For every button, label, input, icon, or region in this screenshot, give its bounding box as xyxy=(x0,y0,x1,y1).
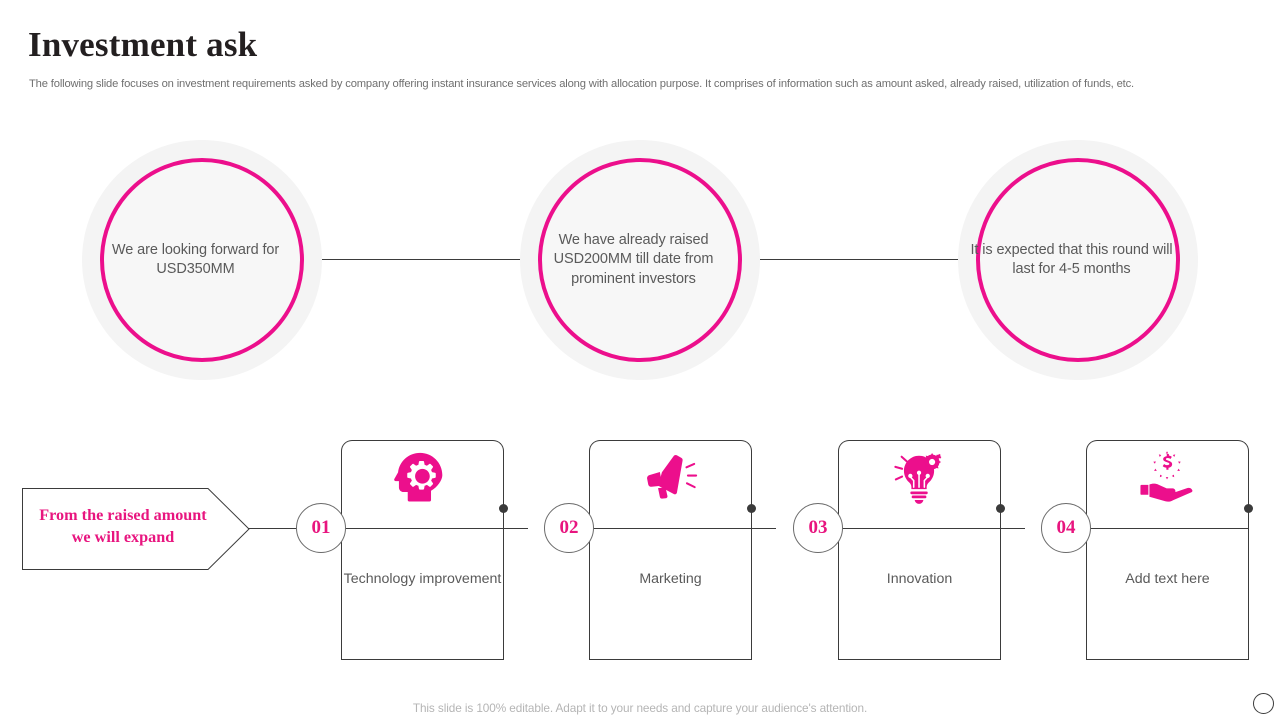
step-2-endpoint-dot xyxy=(747,504,756,513)
allocation-step-3[interactable]: Innovation 03 xyxy=(838,430,1001,660)
hand-money-icon xyxy=(1137,448,1199,506)
highlight-circle-1-text: We are looking forward for USD350MM xyxy=(91,241,300,280)
step-3-label: Innovation xyxy=(838,570,1001,589)
step-3-connector-line xyxy=(838,528,1025,529)
footer-note: This slide is 100% editable. Adapt it to… xyxy=(0,701,1280,715)
lightbulb-gear-icon xyxy=(889,448,951,506)
allocation-step-2[interactable]: Marketing 02 xyxy=(589,430,752,660)
step-4-label-box xyxy=(1086,528,1249,660)
step-3-number-badge[interactable]: 03 xyxy=(793,503,843,553)
highlight-circle-2-text: We have already raised USD200MM till dat… xyxy=(529,231,738,289)
allocation-process-row: From the raised amount we will expand Te… xyxy=(0,430,1280,680)
allocation-banner[interactable]: From the raised amount we will expand xyxy=(22,488,250,570)
highlight-circle-1-ring: We are looking forward for USD350MM xyxy=(100,158,304,362)
circle-connector-2 xyxy=(760,259,961,260)
step-1-endpoint-dot xyxy=(499,504,508,513)
head-gear-icon xyxy=(392,448,454,506)
step-2-connector-line xyxy=(589,528,776,529)
step-4-connector-line xyxy=(1086,528,1249,529)
allocation-banner-label: From the raised amount we will expand xyxy=(28,504,218,548)
step-2-label-box xyxy=(589,528,752,660)
highlight-circle-1[interactable]: We are looking forward for USD350MM xyxy=(82,140,322,380)
allocation-step-4[interactable]: Add text here 04 xyxy=(1086,430,1249,660)
page-subtitle: The following slide focuses on investmen… xyxy=(29,77,1201,92)
highlight-circle-3-text: It is expected that this round will last… xyxy=(967,241,1176,280)
step-4-number-badge[interactable]: 04 xyxy=(1041,503,1091,553)
step-1-label: Technology improvement xyxy=(341,570,504,589)
step-3-label-box xyxy=(838,528,1001,660)
step-1-label-box xyxy=(341,528,504,660)
highlight-circle-3[interactable]: It is expected that this round will last… xyxy=(958,140,1198,380)
step-1-number-badge[interactable]: 01 xyxy=(296,503,346,553)
circle-connector-1 xyxy=(322,259,523,260)
step-4-label: Add text here xyxy=(1086,570,1249,589)
highlight-circle-3-ring: It is expected that this round will last… xyxy=(976,158,1180,362)
megaphone-icon xyxy=(640,448,702,506)
corner-circle-marker[interactable] xyxy=(1253,693,1274,714)
highlight-circle-2[interactable]: We have already raised USD200MM till dat… xyxy=(520,140,760,380)
page-title: Investment ask xyxy=(28,26,257,65)
step-2-number-badge[interactable]: 02 xyxy=(544,503,594,553)
step-2-label: Marketing xyxy=(589,570,752,589)
highlight-circle-2-ring: We have already raised USD200MM till dat… xyxy=(538,158,742,362)
step-3-endpoint-dot xyxy=(996,504,1005,513)
highlight-circles-row: We are looking forward for USD350MM We h… xyxy=(0,140,1280,385)
step-1-connector-line xyxy=(341,528,528,529)
step-4-endpoint-dot xyxy=(1244,504,1253,513)
allocation-step-1[interactable]: Technology improvement 01 xyxy=(341,430,504,660)
